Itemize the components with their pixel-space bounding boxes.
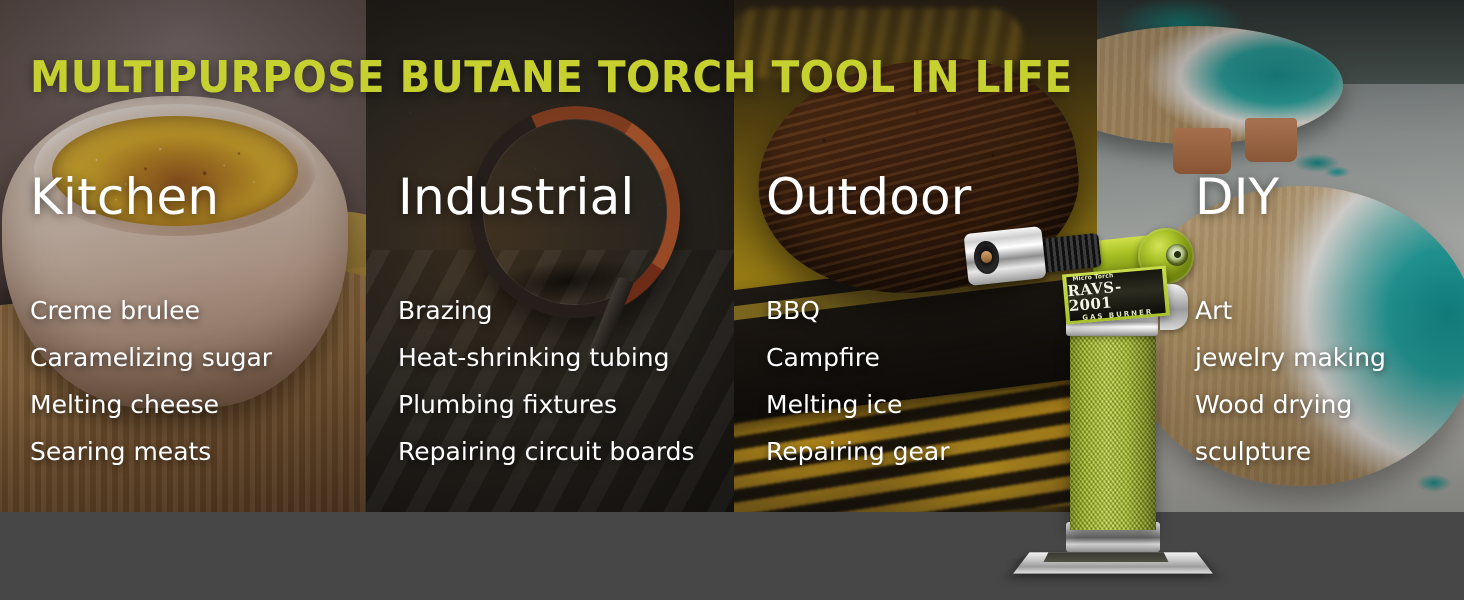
list-item: Brazing — [398, 298, 695, 323]
list-item: sculpture — [1195, 439, 1386, 464]
panel-heading-kitchen: Kitchen — [30, 172, 219, 222]
list-item: BBQ — [766, 298, 950, 323]
banner-headline: MULTIPURPOSE BUTANE TORCH TOOL IN LIFE — [30, 56, 1073, 100]
product-feature-banner: Kitchen Creme brulee Caramelizing sugar … — [0, 0, 1464, 600]
panel-list-kitchen: Creme brulee Caramelizing sugar Melting … — [30, 298, 272, 486]
list-item: Melting cheese — [30, 392, 272, 417]
list-item: Melting ice — [766, 392, 950, 417]
list-item: Art — [1195, 298, 1386, 323]
panel-list-outdoor: BBQ Campfire Melting ice Repairing gear — [766, 298, 950, 486]
list-item: Plumbing fixtures — [398, 392, 695, 417]
list-item: Repairing gear — [766, 439, 950, 464]
torch-flame-outlet — [972, 240, 1000, 275]
panel-list-diy: Art jewelry making Wood drying sculpture — [1195, 298, 1386, 486]
list-item: Searing meats — [30, 439, 272, 464]
torch-ribbed-collar — [1036, 233, 1101, 273]
panel-heading-industrial: Industrial — [398, 172, 635, 222]
list-item: Repairing circuit boards — [398, 439, 695, 464]
bottom-bar — [0, 512, 1464, 600]
list-item: Wood drying — [1195, 392, 1386, 417]
list-item: Creme brulee — [30, 298, 272, 323]
torch-label-plate: Micro Torch RAVS-2001 GAS BURNER — [1062, 266, 1170, 325]
list-item: jewelry making — [1195, 345, 1386, 370]
panel-heading-diy: DIY — [1195, 172, 1279, 222]
torch-knurled-body — [1070, 334, 1156, 530]
panel-list-industrial: Brazing Heat-shrinking tubing Plumbing f… — [398, 298, 695, 486]
product-torch: Micro Torch RAVS-2001 GAS BURNER — [960, 222, 1220, 582]
list-item: Heat-shrinking tubing — [398, 345, 695, 370]
panel-heading-outdoor: Outdoor — [766, 172, 972, 222]
list-item: Caramelizing sugar — [30, 345, 272, 370]
list-item: Campfire — [766, 345, 950, 370]
torch-nozzle — [963, 226, 1046, 286]
